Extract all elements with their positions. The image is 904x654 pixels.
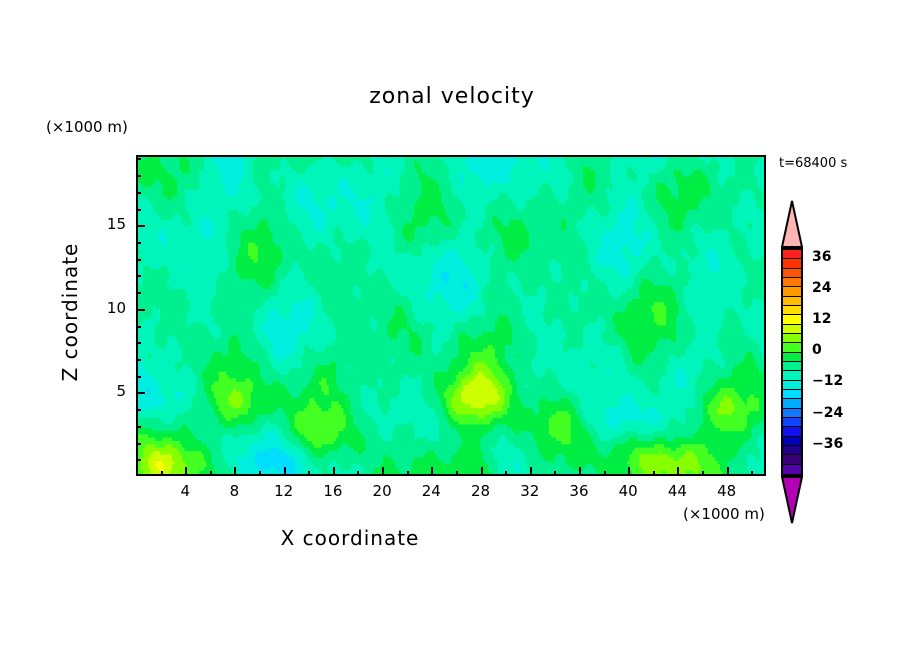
arrow-up-glyph	[781, 200, 803, 248]
x-tick-mark	[481, 467, 483, 476]
x-minor-tick-mark	[604, 471, 606, 476]
x-minor-tick-mark	[702, 471, 704, 476]
colorbar-tick-label: −24	[812, 405, 843, 421]
colorbar-tick-label: 0	[812, 342, 822, 358]
colorbar-tick-label: 36	[812, 249, 831, 265]
x-minor-tick-mark	[554, 471, 556, 476]
x-tick-mark	[382, 467, 384, 476]
colorbar-band	[783, 455, 801, 464]
x-tick-mark	[628, 467, 630, 476]
y-minor-tick-mark	[136, 292, 141, 294]
y-minor-tick-mark	[136, 359, 141, 361]
x-tick-mark	[579, 467, 581, 476]
y-tick-mark	[136, 309, 145, 311]
x-axis-unit-label: (×1000 m)	[683, 505, 765, 523]
y-minor-tick-mark	[136, 242, 141, 244]
x-tick-label: 24	[411, 482, 451, 500]
x-minor-tick-mark	[259, 471, 261, 476]
colorbar-band	[783, 250, 801, 259]
colorbar-band	[783, 399, 801, 408]
colorbar-band	[783, 269, 801, 278]
y-minor-tick-mark	[136, 209, 141, 211]
x-tick-label: 48	[707, 482, 747, 500]
y-tick-label: 5	[92, 382, 126, 400]
colorbar-band	[783, 343, 801, 352]
x-tick-mark	[284, 467, 286, 476]
x-tick-mark	[530, 467, 532, 476]
x-tick-label: 32	[510, 482, 550, 500]
x-minor-tick-mark	[751, 471, 753, 476]
x-minor-tick-mark	[407, 471, 409, 476]
y-tick-mark	[136, 225, 145, 227]
colorbar-band	[783, 465, 801, 474]
x-minor-tick-mark	[505, 471, 507, 476]
y-tick-label: 15	[92, 215, 126, 233]
x-minor-tick-mark	[357, 471, 359, 476]
y-minor-tick-mark	[136, 192, 141, 194]
y-minor-tick-mark	[136, 275, 141, 277]
colorbar-band	[783, 446, 801, 455]
x-tick-mark	[727, 467, 729, 476]
x-tick-mark	[431, 467, 433, 476]
x-tick-label: 40	[608, 482, 648, 500]
colorbar-band	[783, 334, 801, 343]
x-minor-tick-mark	[210, 471, 212, 476]
x-tick-label: 4	[165, 482, 205, 500]
y-minor-tick-mark	[136, 259, 141, 261]
y-minor-tick-mark	[136, 326, 141, 328]
x-minor-tick-mark	[308, 471, 310, 476]
y-minor-tick-mark	[136, 175, 141, 177]
x-tick-label: 28	[461, 482, 501, 500]
colorbar-tick-label: −36	[812, 436, 843, 452]
x-tick-mark	[234, 467, 236, 476]
y-minor-tick-mark	[136, 459, 141, 461]
colorbar-band	[783, 390, 801, 399]
x-minor-tick-mark	[161, 471, 163, 476]
colorbar-band	[783, 418, 801, 427]
y-minor-tick-mark	[136, 158, 141, 160]
colorbar-band	[783, 306, 801, 315]
y-minor-tick-mark	[136, 342, 141, 344]
x-tick-label: 44	[657, 482, 697, 500]
x-axis-title: X coordinate	[0, 526, 700, 550]
y-axis-unit-label: (×1000 m)	[46, 118, 128, 136]
colorbar-band	[783, 437, 801, 446]
page-title: zonal velocity	[0, 84, 904, 109]
colorbar-band	[783, 353, 801, 362]
colorbar-band	[783, 259, 801, 268]
x-minor-tick-mark	[653, 471, 655, 476]
colorbar-bands	[781, 248, 803, 476]
y-tick-mark	[136, 392, 145, 394]
colorbar-top-arrow-icon	[781, 200, 803, 248]
colorbar-band	[783, 325, 801, 334]
colorbar-band	[783, 278, 801, 287]
y-minor-tick-mark	[136, 376, 141, 378]
arrow-down-glyph	[781, 476, 803, 524]
contour-field	[138, 157, 764, 474]
contour-plot-area	[136, 155, 766, 476]
x-tick-mark	[677, 467, 679, 476]
y-minor-tick-mark	[136, 409, 141, 411]
colorbar-band	[783, 287, 801, 296]
x-tick-mark	[185, 467, 187, 476]
colorbar-tick-label: −12	[812, 373, 843, 389]
colorbar-band	[783, 381, 801, 390]
y-minor-tick-mark	[136, 443, 141, 445]
timestamp-label: t=68400 s	[779, 156, 847, 171]
x-minor-tick-mark	[456, 471, 458, 476]
x-tick-label: 20	[362, 482, 402, 500]
x-tick-label: 12	[264, 482, 304, 500]
x-tick-mark	[333, 467, 335, 476]
x-tick-label: 36	[559, 482, 599, 500]
x-tick-label: 8	[214, 482, 254, 500]
colorbar-tick-label: 24	[812, 280, 831, 296]
colorbar-band	[783, 297, 801, 306]
x-tick-label: 16	[313, 482, 353, 500]
colorbar-band	[783, 315, 801, 324]
colorbar: 3624120−12−24−36	[772, 200, 902, 525]
colorbar-bottom-arrow-icon	[781, 476, 803, 524]
colorbar-band	[783, 409, 801, 418]
y-axis-title: Z coordinate	[58, 202, 82, 422]
colorbar-band	[783, 427, 801, 436]
y-tick-label: 10	[92, 299, 126, 317]
colorbar-tick-label: 12	[812, 311, 831, 327]
colorbar-band	[783, 362, 801, 371]
colorbar-band	[783, 371, 801, 380]
y-minor-tick-mark	[136, 426, 141, 428]
